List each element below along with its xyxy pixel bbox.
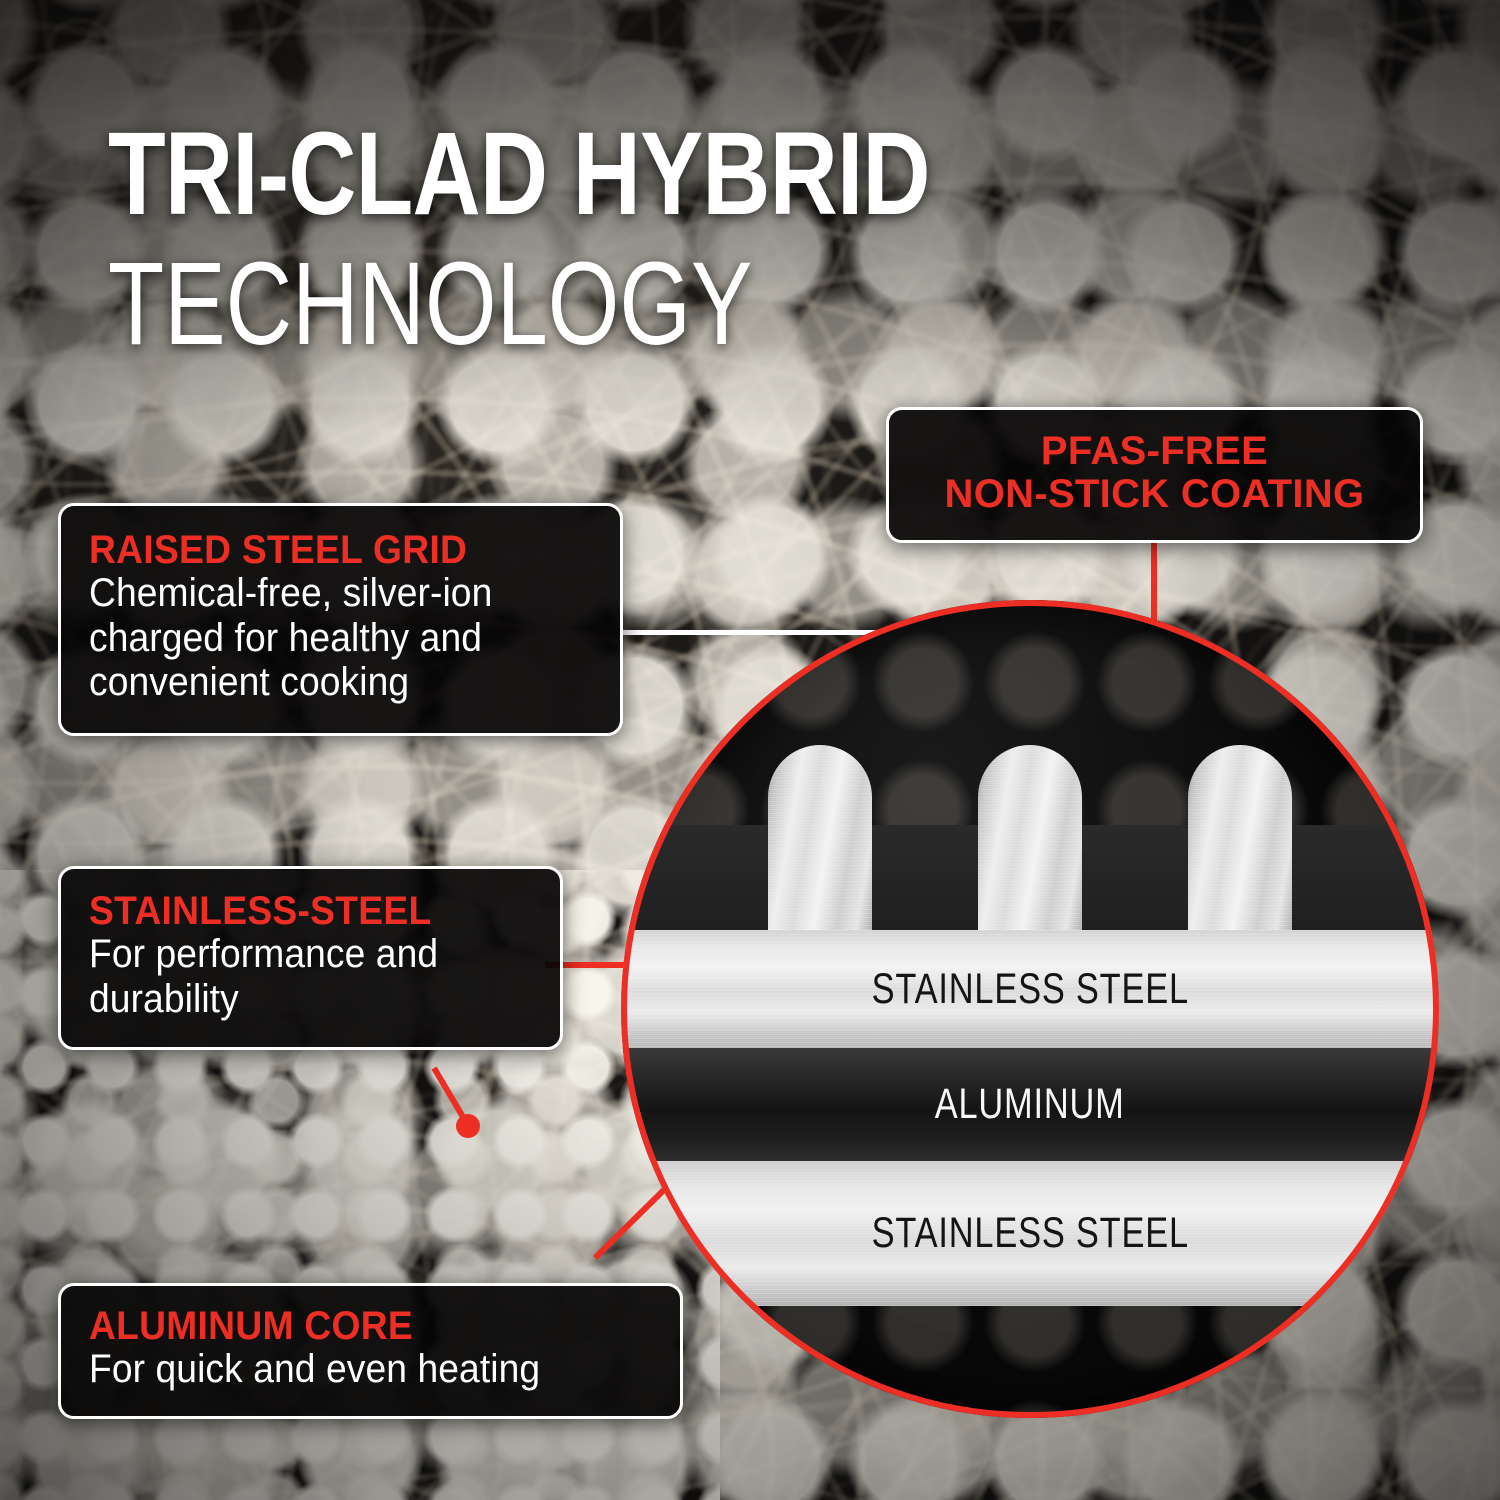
title-line-1: TRI-CLAD HYBRID <box>108 118 930 231</box>
raised-steel-grid-bumps <box>621 745 1439 950</box>
layer-label-stainless-steel-top: STAINLESS STEEL <box>871 965 1188 1014</box>
title-line-2: TECHNOLOGY <box>108 245 909 363</box>
layer-stainless-steel-top: STAINLESS STEEL <box>621 930 1439 1048</box>
callout-body-aluminum-core: For quick and even heating <box>89 1347 614 1392</box>
callout-heading-aluminum-core: ALUMINUM CORE <box>89 1306 614 1347</box>
infographic-canvas: TRI-CLAD HYBRID TECHNOLOGY <box>0 0 1500 1500</box>
callout-stainless-steel[interactable]: STAINLESS-STEEL For performance and dura… <box>58 866 563 1050</box>
steel-bump-3 <box>1188 745 1292 950</box>
callout-body-stainless-steel: For performance and durability <box>89 932 503 1022</box>
layer-stainless-steel-bottom: STAINLESS STEEL <box>621 1161 1439 1306</box>
callout-pfas-free-non-stick-coating[interactable]: PFAS-FREE NON-STICK COATING <box>886 407 1423 543</box>
layer-label-aluminum: ALUMINUM <box>935 1080 1125 1129</box>
page-title: TRI-CLAD HYBRID TECHNOLOGY <box>108 118 1135 363</box>
callout-heading-pfas-line-1: PFAS-FREE <box>911 430 1398 473</box>
steel-bump-1 <box>768 745 872 950</box>
callout-heading-raised-steel-grid: RAISED STEEL GRID <box>89 530 559 571</box>
callout-body-raised-steel-grid: Chemical-free, silver-ion charged for he… <box>89 571 559 705</box>
layer-aluminum: ALUMINUM <box>621 1048 1439 1161</box>
callout-aluminum-core[interactable]: ALUMINUM CORE For quick and even heating <box>58 1283 683 1419</box>
tri-clad-cross-section-diagram: STAINLESS STEEL ALUMINUM STAINLESS STEEL <box>621 600 1439 1418</box>
diagram-disc: STAINLESS STEEL ALUMINUM STAINLESS STEEL <box>621 600 1439 1418</box>
layer-label-stainless-steel-bottom: STAINLESS STEEL <box>871 1209 1188 1258</box>
steel-bump-2 <box>978 745 1082 950</box>
callout-heading-pfas-line-2: NON-STICK COATING <box>911 473 1398 516</box>
callout-heading-stainless-steel: STAINLESS-STEEL <box>89 891 503 932</box>
callout-raised-steel-grid[interactable]: RAISED STEEL GRID Chemical-free, silver-… <box>58 503 623 736</box>
